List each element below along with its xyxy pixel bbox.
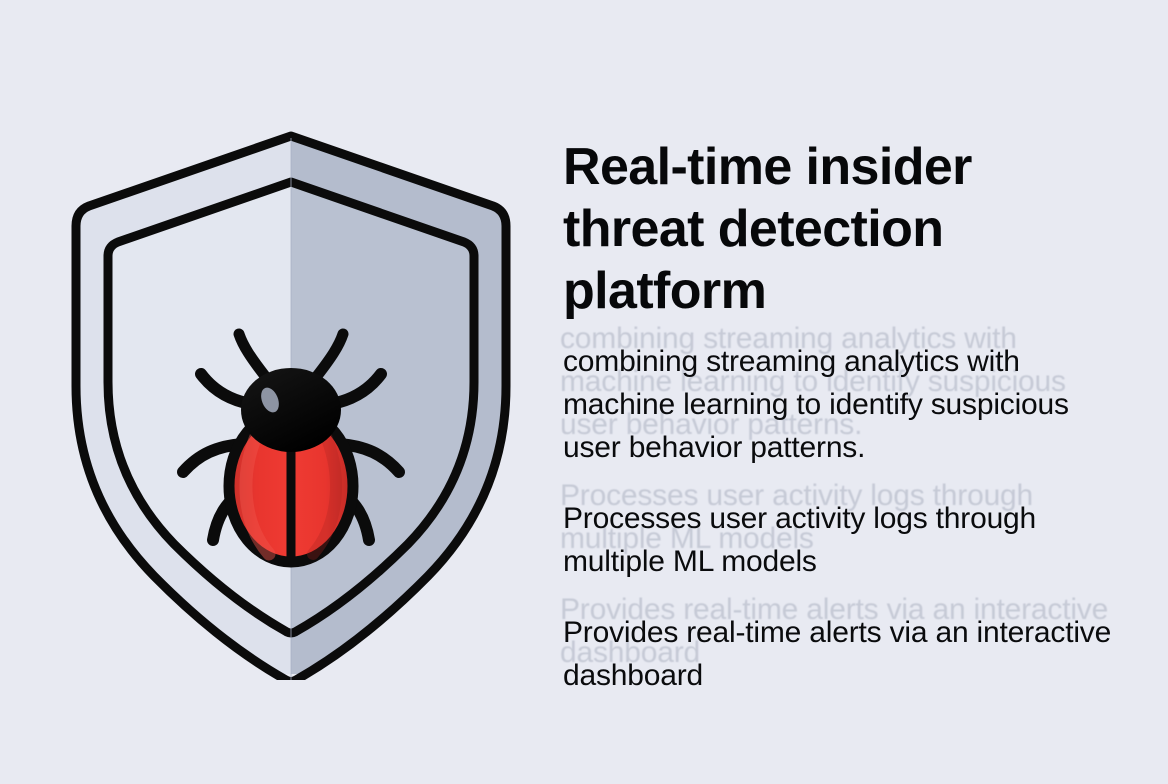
poster-canvas: Real-time insider threat detection platf… bbox=[0, 0, 1168, 784]
bug-head bbox=[241, 368, 341, 452]
description-item-1: combining streaming analytics with machi… bbox=[563, 340, 1123, 469]
text-column: Real-time insider threat detection platf… bbox=[563, 136, 1123, 697]
description-item-2: Processes user activity logs through mul… bbox=[563, 497, 1123, 583]
description-text-3: Provides real-time alerts via an interac… bbox=[563, 611, 1123, 697]
description-text-2: Processes user activity logs through mul… bbox=[563, 497, 1123, 583]
description-list: combining streaming analytics with machi… bbox=[563, 340, 1123, 697]
description-text-1: combining streaming analytics with machi… bbox=[563, 340, 1123, 469]
shield-with-bug-illustration bbox=[56, 120, 526, 680]
page-title: Real-time insider threat detection platf… bbox=[563, 136, 1063, 322]
description-item-3: Provides real-time alerts via an interac… bbox=[563, 611, 1123, 697]
